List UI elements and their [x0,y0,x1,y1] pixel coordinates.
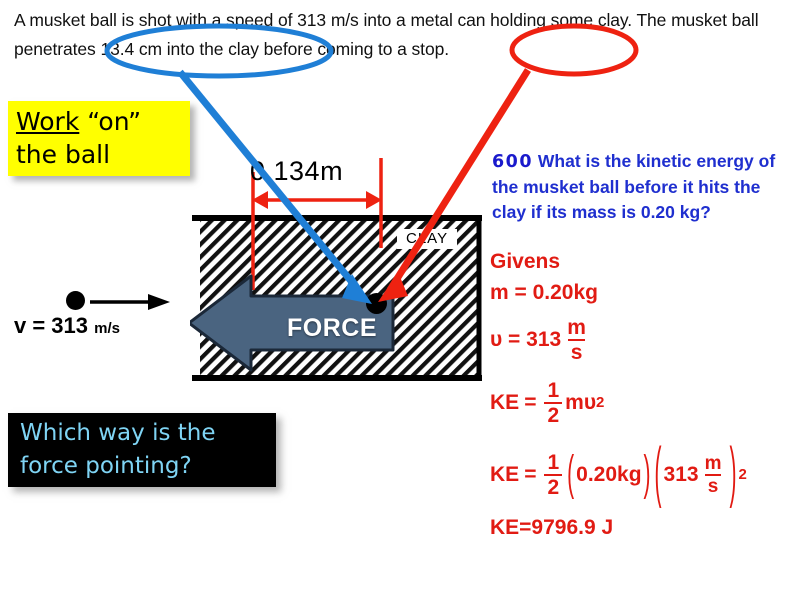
half-numerator-sub: 1 [544,452,562,474]
dimension-double-arrow [252,191,382,209]
substituted-speed: 313 [664,463,699,487]
given-mass-equation: m = 0.20kg [490,281,795,305]
close-paren-mass: ) [644,447,651,502]
problem-statement: A musket ball is shot with a speed of 31… [14,6,786,64]
work-callout-underlined-word: Work [16,107,79,136]
force-question-line2: force pointing? [20,450,276,483]
substituted-mass: 0.20kg [576,463,641,487]
open-paren-speed: ( [655,437,662,514]
work-callout-quoted-word: “on” [87,107,141,136]
penetration-depth-label: 0.134m [250,156,343,187]
force-arrow-label: FORCE [287,314,377,343]
givens-and-solution-block: Givens m = 0.20kg υ = 313 m s KE = 1 2 m… [490,250,795,540]
work-callout-line1: Work “on” [16,105,190,138]
velocity-units-denominator: s [568,339,586,363]
velocity-value-label: v = 313 m/s [14,313,120,339]
velocity-lhs: υ = 313 [490,328,561,352]
can-and-clay-diagram: 0.134m CLAY FORCE [190,150,490,390]
kinetic-energy-substitution: KE = 1 2 ( 0.20kg ) ( 313 m s )2 [490,444,795,506]
question-body: What is the kinetic energy of the musket… [492,151,775,222]
right-arrow-icon [90,291,170,313]
filled-circle-icon [66,291,85,310]
one-half-fraction: 1 2 [544,380,562,426]
half-denominator-sub: 2 [544,474,562,498]
ke-label: KE [490,391,519,415]
velocity-units: m/s [94,320,120,337]
open-paren-mass: ( [567,447,574,502]
filled-circle-icon [366,293,387,314]
velocity-magnitude: v = 313 [14,313,88,338]
clay-label: CLAY [397,229,457,249]
half-numerator: 1 [544,380,562,402]
equals-sign-sub: = [524,463,536,487]
half-denominator: 2 [544,402,562,426]
kinetic-energy-formula: KE = 1 2 mυ2 [490,378,795,428]
kinetic-energy-result: KE=9796.9 J [490,516,795,540]
ke-label-sub: KE [490,463,519,487]
question-number: 600 [492,152,533,172]
given-velocity-equation: υ = 313 m s [490,316,795,364]
velocity-units-fraction: m s [564,317,589,363]
velocity-units-numerator: m [564,317,589,339]
speed-units-denominator: s [705,474,722,496]
close-paren-speed: ) [729,437,736,514]
ke-body-term: mυ [565,391,596,415]
givens-heading: Givens [490,250,795,274]
work-on-ball-callout: Work “on” the ball [8,101,190,176]
question-text-block: 600 What is the kinetic energy of the mu… [492,149,792,225]
speed-units-numerator: m [702,454,725,474]
incoming-velocity-group: v = 313 m/s [14,285,214,345]
equals-sign: = [524,391,536,415]
one-half-fraction-sub: 1 2 [544,452,562,498]
force-direction-question-box: Which way is the force pointing? [8,413,276,487]
speed-units-fraction: m s [702,454,725,496]
work-callout-line2: the ball [16,138,190,171]
force-question-line1: Which way is the [20,417,276,450]
